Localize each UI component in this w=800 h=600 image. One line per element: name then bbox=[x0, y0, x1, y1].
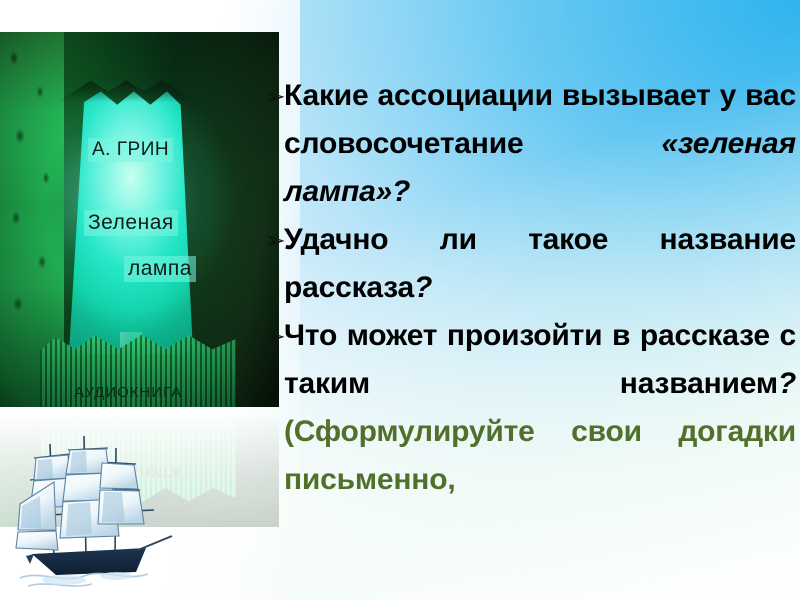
question-list: ➢Какие ассоциации вызывает у вас словосо… bbox=[266, 72, 796, 600]
arrow-bullet-icon: ➢ bbox=[264, 228, 286, 254]
arrow-bullet-icon: ➢ bbox=[264, 324, 286, 350]
question-item-1: ➢Какие ассоциации вызывает у вас словосо… bbox=[266, 72, 796, 216]
question-3-text: Что может произойти в рассказе с таким н… bbox=[284, 319, 796, 400]
sailing-ship-icon bbox=[12, 418, 182, 600]
question-4-text: (Сформулируйте свои догадки письменно, bbox=[284, 415, 796, 496]
cover-title-line1: Зеленая bbox=[84, 210, 178, 236]
question-2-text: Удачно ли такое название рассказа bbox=[284, 223, 796, 304]
slide-canvas: АУДИОКНИГА А. ГРИН Зеленая лампа АУДИОКН… bbox=[0, 0, 800, 600]
question-item-3: ➢Что может произойти в рассказе с таким … bbox=[266, 312, 796, 408]
question-3-emphasis: ? bbox=[778, 367, 796, 400]
question-item-2: ➢ Удачно ли такое название рассказа? bbox=[266, 216, 796, 312]
arrow-bullet-icon: ➢ bbox=[264, 84, 286, 110]
cover-author-label: А. ГРИН bbox=[88, 138, 173, 162]
sailing-ship-illustration bbox=[12, 418, 182, 600]
question-2-emphasis: ? bbox=[414, 271, 432, 304]
cover-title-line2: лампа bbox=[124, 256, 196, 282]
question-item-4: (Сформулируйте свои догадки письменно, bbox=[266, 408, 796, 504]
audiobook-cover-image[interactable]: А. ГРИН Зеленая лампа АУДИОКНИГА bbox=[0, 32, 279, 407]
cover-format-label: АУДИОКНИГА bbox=[74, 384, 182, 401]
